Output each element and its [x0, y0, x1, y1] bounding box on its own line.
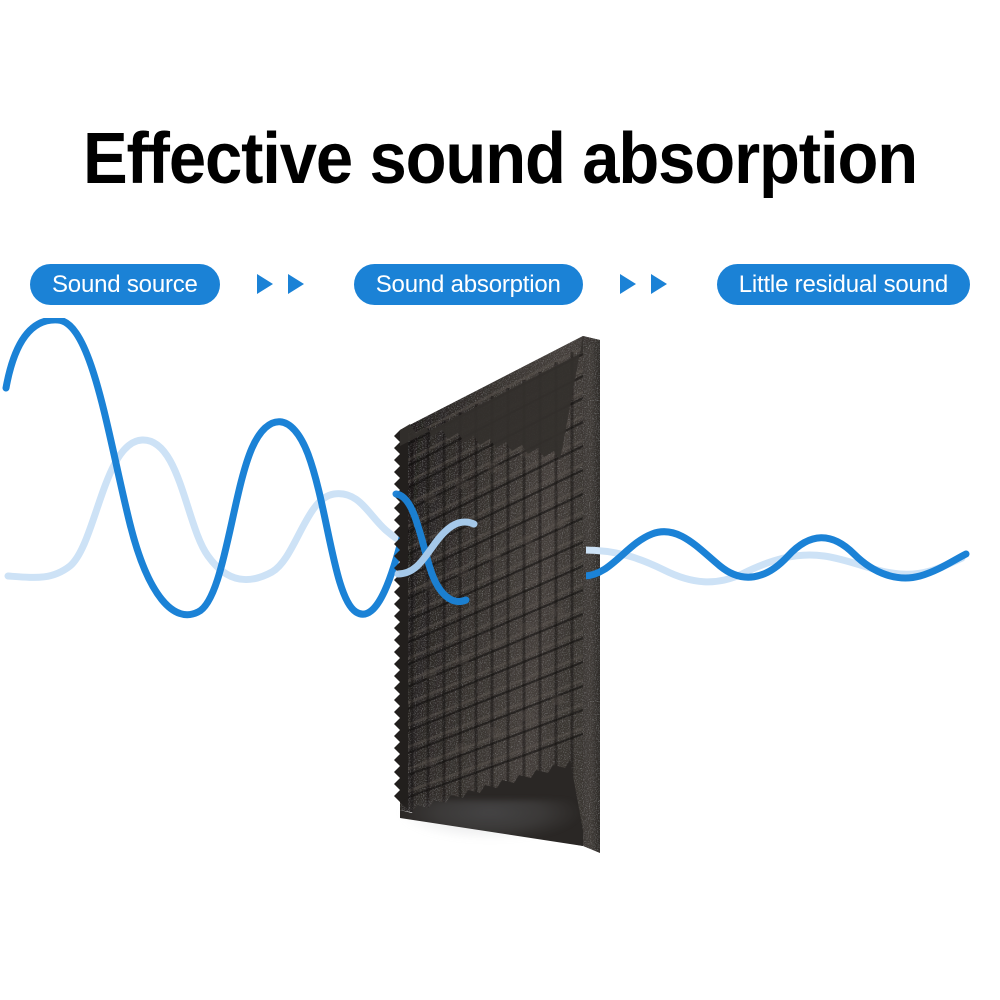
- acoustic-foam-absorption-diagram: [0, 318, 1000, 918]
- flow-step-sound-absorption[interactable]: Sound absorption: [354, 264, 583, 305]
- double-chevron-right-icon-1: [252, 269, 321, 299]
- flow-step-sound-source[interactable]: Sound source: [30, 264, 220, 305]
- flow-step-label: Sound absorption: [376, 264, 561, 305]
- flow-step-label: Little residual sound: [739, 264, 948, 305]
- flow-steps: Sound source Sound absorption Little res…: [30, 262, 970, 306]
- acoustic-foam-panel: [394, 336, 600, 853]
- flow-step-little-residual-sound[interactable]: Little residual sound: [717, 264, 970, 305]
- double-chevron-right-icon-2: [615, 269, 684, 299]
- flow-step-label: Sound source: [52, 264, 198, 305]
- page-title: Effective sound absorption: [35, 118, 965, 200]
- promo-banner: Effective sound absorption Sound source …: [0, 0, 1000, 1000]
